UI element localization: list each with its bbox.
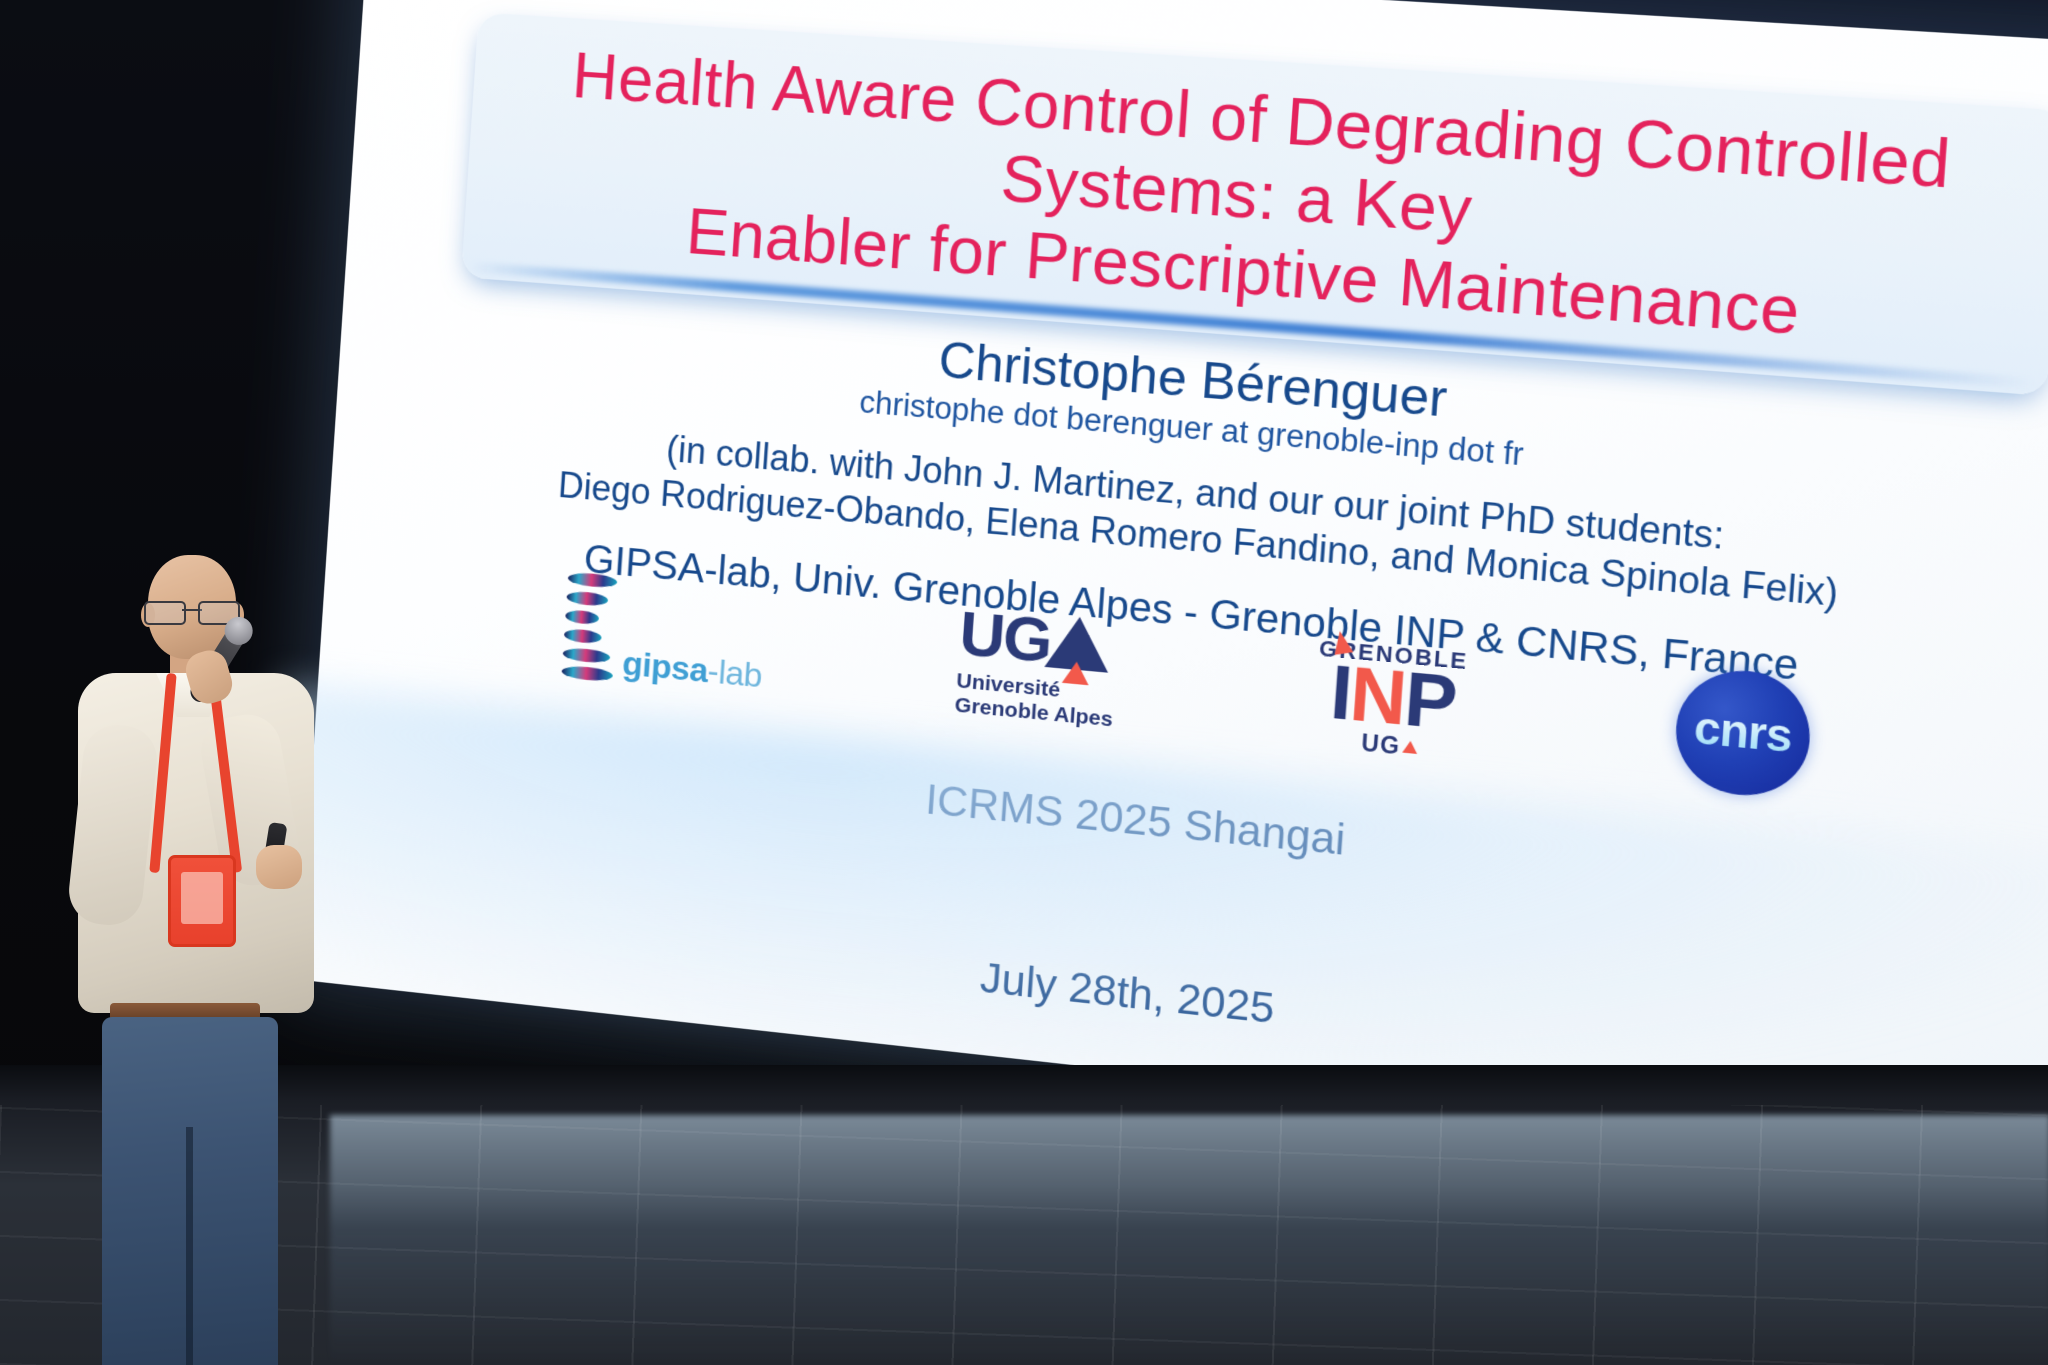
- speaker-badge: [168, 855, 236, 947]
- inp-letter-p: P: [1402, 656, 1458, 746]
- speaker-figure: [60, 555, 340, 1365]
- gipsa-lab-wordmark: gipsa-lab: [621, 646, 763, 697]
- inp-tick-icon: [1330, 630, 1353, 655]
- uga-acronym: UG: [958, 605, 1112, 675]
- grenoble-inp-logo: GRENOBLE INP UG: [1312, 636, 1473, 767]
- projection-screen: Health Aware Control of Degrading Contro…: [298, 0, 2048, 1181]
- gipsa-secondary-text: -lab: [706, 652, 763, 695]
- glasses-icon: [142, 601, 242, 621]
- inp-letter-n: N: [1347, 651, 1407, 741]
- gipsa-primary-text: gipsa: [621, 644, 709, 690]
- cnrs-logo: cnrs: [1672, 665, 1814, 801]
- cnrs-wordmark: cnrs: [1692, 702, 1793, 763]
- speaker-hand-holding-clicker: [256, 845, 302, 889]
- conference-photo-scene: Health Aware Control of Degrading Contro…: [0, 0, 2048, 1365]
- uga-acronym-text: UG: [958, 605, 1053, 670]
- uga-logo: UG Université Grenoble Alpes: [954, 605, 1120, 732]
- speaker-lanyard: [158, 673, 230, 873]
- inp-acronym: INP: [1328, 658, 1457, 740]
- uga-mountain-icon: [1045, 615, 1112, 674]
- uga-subtitle: Université Grenoble Alpes: [954, 669, 1115, 731]
- gipsa-lab-logo: gipsa-lab: [561, 572, 768, 698]
- gipsa-lab-mark-icon: [561, 572, 619, 684]
- speaker-jeans: [102, 1017, 278, 1365]
